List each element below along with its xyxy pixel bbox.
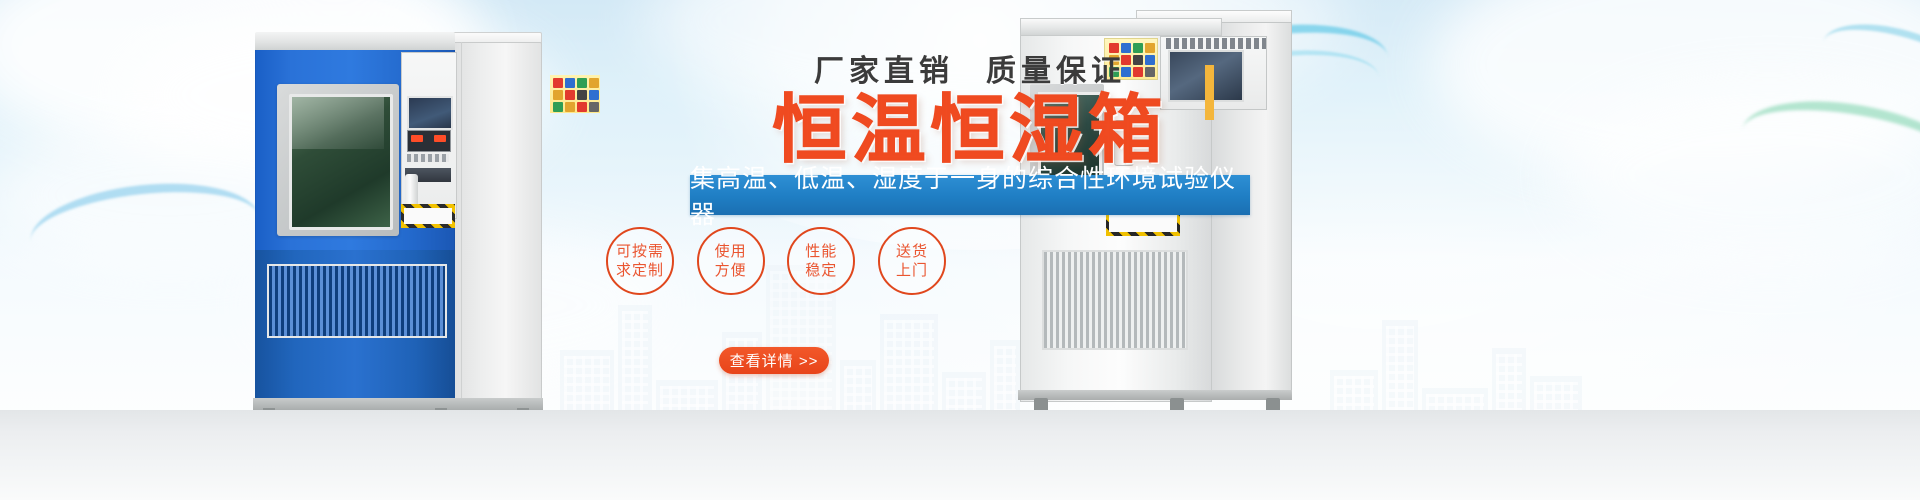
swoosh-stroke [1814,9,1920,118]
swoosh-stroke [1734,86,1920,215]
cloud [1430,0,1920,190]
feature-badge-4-line1: 送货 [896,242,928,261]
vent-grille-right [1042,250,1188,350]
swoosh-stroke [26,173,264,286]
led-display-left [407,130,451,152]
product-image-left [255,32,540,404]
feature-badges: 可按需 求定制 使用 方便 性能 稳定 送货 上门 [606,226,946,296]
feature-badge-1-line1: 可按需 [616,242,664,261]
kicker-line: 厂家直销 质量保证 [690,46,1250,90]
promo-banner: 厂家直销 质量保证 恒温恒湿箱 集高温、低温、湿度于一身的综合性环境试验仪器 可… [0,0,1920,500]
feature-badge-4-line2: 上门 [896,261,928,280]
feature-badge-3[interactable]: 性能 稳定 [787,227,855,295]
subtitle-bar: 集高温、低温、湿度于一身的综合性环境试验仪器 [690,175,1250,215]
vent-grille-left [267,264,447,338]
feature-badge-2-line2: 方便 [715,261,747,280]
warning-label-left [550,75,600,113]
ground-band [0,410,1920,500]
cloud [1560,80,1920,270]
view-details-button[interactable]: 查看详情 >> [719,347,829,374]
headline: 恒温恒湿箱 [690,92,1250,167]
kicker-item-2: 质量保证 [986,46,1126,90]
kicker-item-1: 厂家直销 [814,46,954,90]
feature-badge-3-line2: 稳定 [805,261,837,280]
feature-badge-1[interactable]: 可按需 求定制 [606,227,674,295]
feature-badge-2[interactable]: 使用 方便 [697,227,765,295]
feature-badge-1-line2: 求定制 [616,261,664,280]
banner-copy: 厂家直销 质量保证 恒温恒湿箱 集高温、低温、湿度于一身的综合性环境试验仪器 [690,46,1250,215]
feature-badge-3-line1: 性能 [805,242,837,261]
hmi-screen-left [407,96,453,130]
feature-badge-2-line1: 使用 [715,242,747,261]
feature-badge-4[interactable]: 送货 上门 [878,227,946,295]
